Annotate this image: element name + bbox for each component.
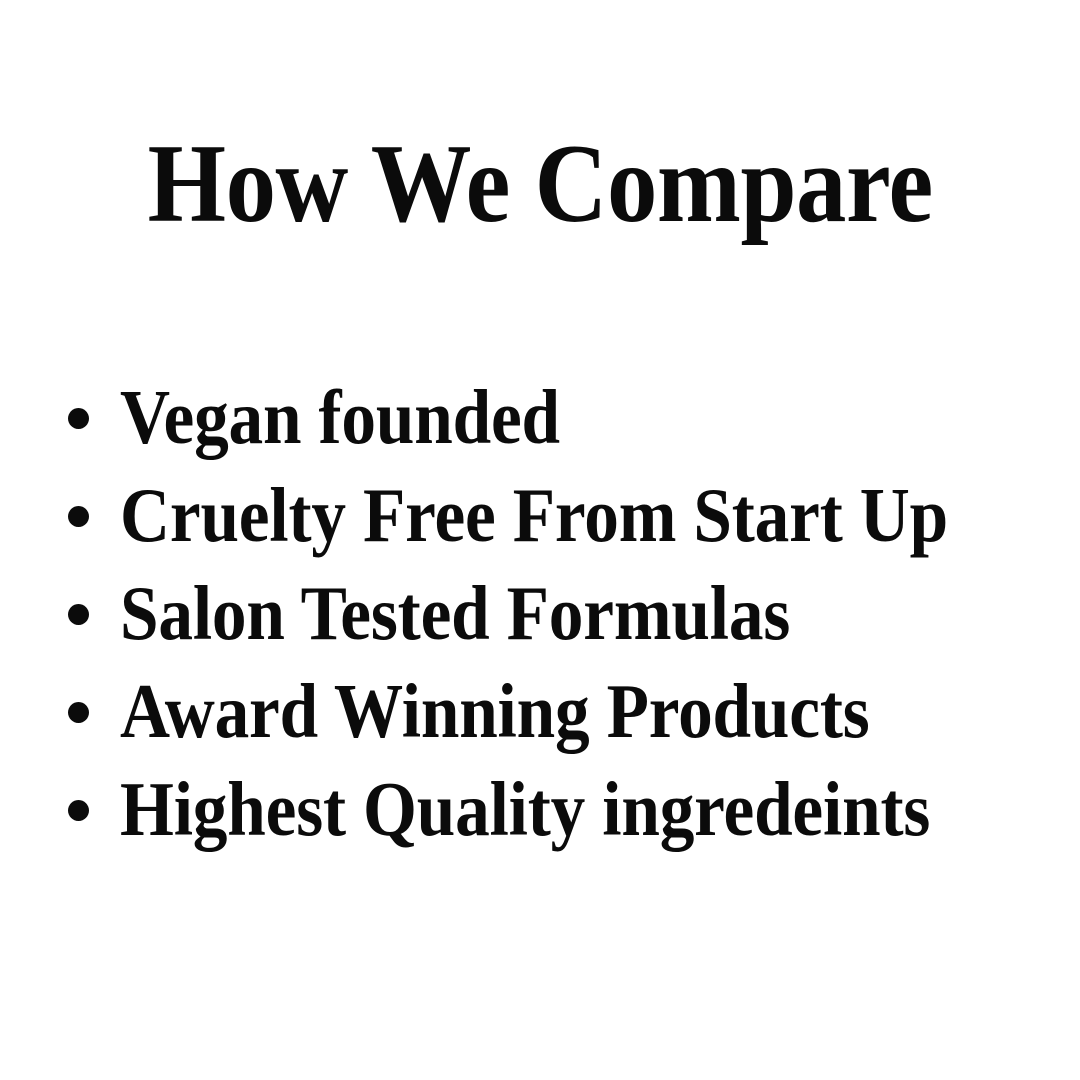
- list-item: Cruelty Free From Start Up: [68, 466, 1028, 564]
- bullet-icon: [68, 800, 89, 821]
- list-item-label: Salon Tested Formulas: [120, 575, 790, 652]
- list-item-label: Highest Quality ingredeints: [120, 771, 930, 848]
- list-item: Salon Tested Formulas: [68, 564, 1028, 662]
- list-item-label: Vegan founded: [120, 379, 560, 456]
- list-item: Vegan founded: [68, 368, 1028, 466]
- benefits-list: Vegan founded Cruelty Free From Start Up…: [68, 368, 1028, 858]
- page-title-text: How We Compare: [147, 128, 932, 240]
- bullet-icon: [68, 604, 89, 625]
- page-title: How We Compare: [0, 128, 1080, 240]
- list-item-label: Cruelty Free From Start Up: [120, 477, 948, 554]
- bullet-icon: [68, 408, 89, 429]
- bullet-icon: [68, 506, 89, 527]
- promo-card: How We Compare Vegan founded Cruelty Fre…: [0, 0, 1080, 1080]
- list-item-label: Award Winning Products: [120, 673, 870, 750]
- bullet-icon: [68, 702, 89, 723]
- list-item: Highest Quality ingredeints: [68, 760, 1028, 858]
- list-item: Award Winning Products: [68, 662, 1028, 760]
